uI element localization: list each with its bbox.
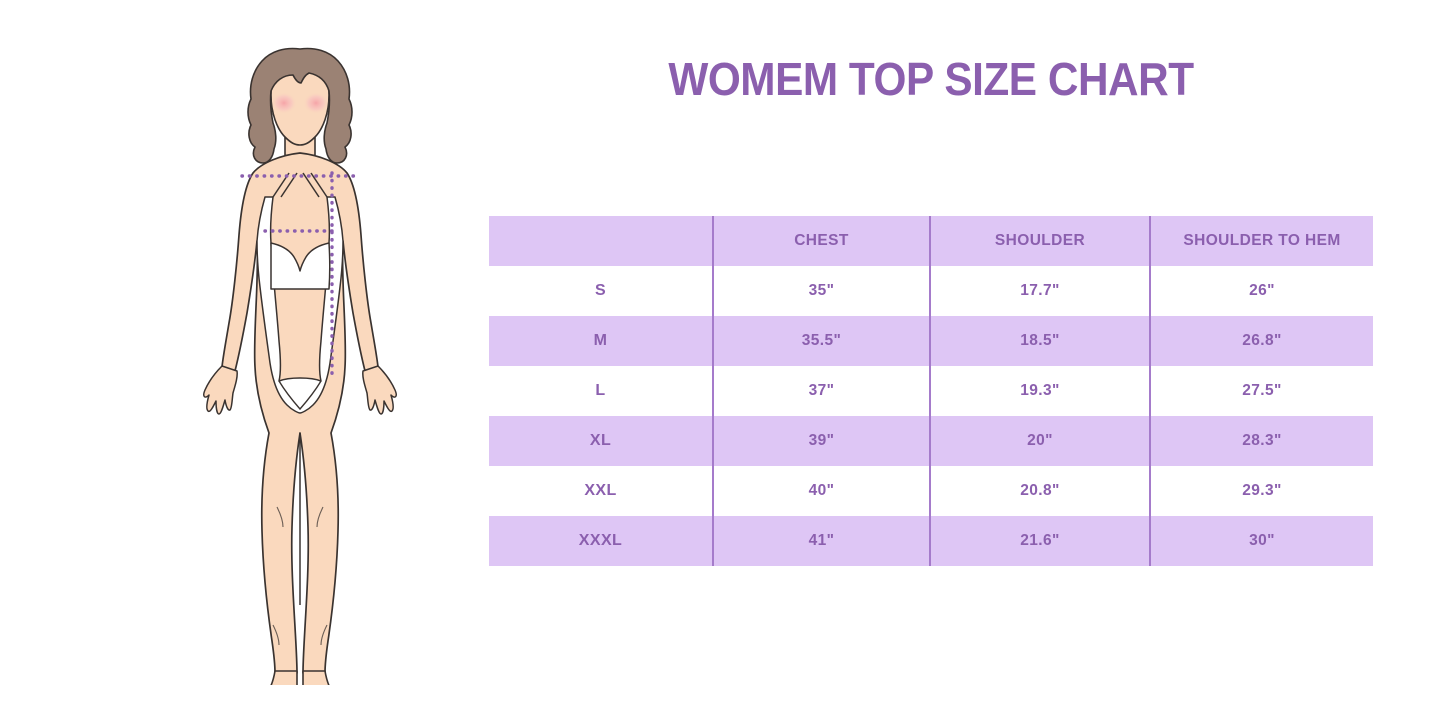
table-header: CHEST SHOULDER SHOULDER TO HEM (489, 216, 1373, 266)
cell-shoulder: 17.7" (930, 266, 1150, 316)
cell-chest: 37" (713, 366, 930, 416)
cell-shoulder: 19.3" (930, 366, 1150, 416)
cell-shoulder-to-hem: 28.3" (1150, 416, 1373, 466)
cell-chest: 35.5" (713, 316, 930, 366)
cell-shoulder: 20.8" (930, 466, 1150, 516)
cell-size: M (489, 316, 713, 366)
table-row: XXXL 41" 21.6" 30" (489, 516, 1373, 566)
figure-body-shape (204, 49, 396, 686)
size-chart-table: CHEST SHOULDER SHOULDER TO HEM S 35" 17.… (489, 216, 1373, 566)
cell-chest: 35" (713, 266, 930, 316)
cell-chest: 41" (713, 516, 930, 566)
cell-shoulder: 21.6" (930, 516, 1150, 566)
cell-shoulder-to-hem: 30" (1150, 516, 1373, 566)
table-row: XL 39" 20" 28.3" (489, 416, 1373, 466)
cell-size: XL (489, 416, 713, 466)
body-figure-illustration (185, 45, 415, 690)
cell-size: S (489, 266, 713, 316)
cell-shoulder: 18.5" (930, 316, 1150, 366)
cell-shoulder-to-hem: 26" (1150, 266, 1373, 316)
cell-chest: 40" (713, 466, 930, 516)
column-header-shoulder-to-hem: SHOULDER TO HEM (1150, 216, 1373, 266)
table-body: S 35" 17.7" 26" M 35.5" 18.5" 26.8" L 37… (489, 266, 1373, 566)
cell-size: XXL (489, 466, 713, 516)
cell-shoulder-to-hem: 29.3" (1150, 466, 1373, 516)
table-row: XXL 40" 20.8" 29.3" (489, 466, 1373, 516)
cell-chest: 39" (713, 416, 930, 466)
cell-shoulder-to-hem: 27.5" (1150, 366, 1373, 416)
page-title: WOMEM TOP SIZE CHART (524, 52, 1337, 106)
table-row: S 35" 17.7" 26" (489, 266, 1373, 316)
cell-size: L (489, 366, 713, 416)
table-row: M 35.5" 18.5" 26.8" (489, 316, 1373, 366)
column-header-chest: CHEST (713, 216, 930, 266)
cell-shoulder-to-hem: 26.8" (1150, 316, 1373, 366)
table-header-row: CHEST SHOULDER SHOULDER TO HEM (489, 216, 1373, 266)
column-header-size (489, 216, 713, 266)
cell-shoulder: 20" (930, 416, 1150, 466)
cell-size: XXXL (489, 516, 713, 566)
size-chart-table-wrapper: CHEST SHOULDER SHOULDER TO HEM S 35" 17.… (489, 216, 1373, 566)
figure-panel: SHOULDER CHEST SHOULDER TO HEM (0, 0, 470, 723)
column-header-shoulder: SHOULDER (930, 216, 1150, 266)
table-row: L 37" 19.3" 27.5" (489, 366, 1373, 416)
